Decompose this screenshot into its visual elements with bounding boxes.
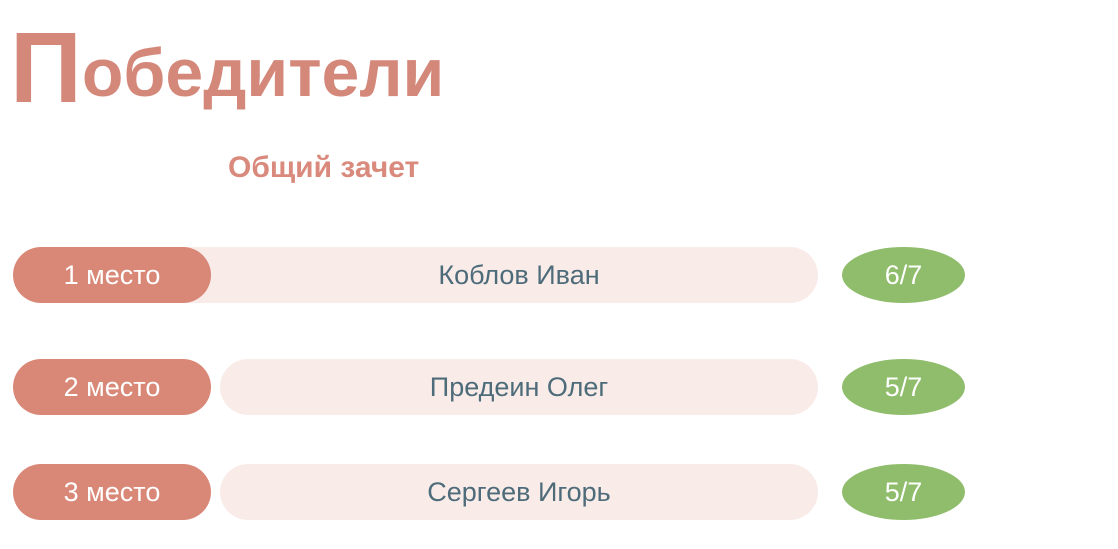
winner-name: Сергеев Игорь	[220, 464, 818, 520]
status-badge: 5/7	[842, 464, 965, 520]
leaderboard-row: Коблов Иван 1 место 6/7	[0, 247, 1000, 303]
leaderboard-list: Коблов Иван 1 место 6/7 Предеин Олег 2 м…	[0, 0, 1000, 549]
place-badge: 3 место	[13, 464, 211, 520]
place-badge: 1 место	[13, 247, 211, 303]
place-badge: 2 место	[13, 359, 211, 415]
leaderboard-row: Предеин Олег 2 место 5/7	[0, 359, 1000, 415]
winners-board: Победители Общий зачет Коблов Иван 1 мес…	[0, 0, 1118, 549]
winner-name: Предеин Олег	[220, 359, 818, 415]
status-badge: 6/7	[842, 247, 965, 303]
leaderboard-row: Сергеев Игорь 3 место 5/7	[0, 464, 1000, 520]
winner-name: Коблов Иван	[220, 247, 818, 303]
status-badge: 5/7	[842, 359, 965, 415]
